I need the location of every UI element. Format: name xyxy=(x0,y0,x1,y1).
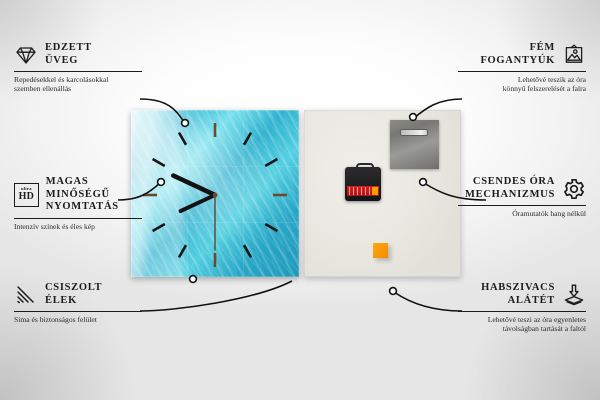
clock-back-panel xyxy=(304,110,461,277)
bevel-edge-icon xyxy=(14,283,38,307)
clock-dial xyxy=(131,110,299,277)
movement-label-marker xyxy=(372,187,378,195)
feature-fem-fogantyuk[interactable]: FÉM FOGANTYÚK Lehetővé teszik az óra kön… xyxy=(458,42,586,94)
hanger-slot xyxy=(400,129,428,136)
metal-hanger-part xyxy=(390,120,439,169)
product-photo xyxy=(131,110,461,277)
foam-pad-icon xyxy=(562,283,586,307)
title-rule xyxy=(458,71,586,72)
clock-tick xyxy=(179,245,186,257)
clock-tick xyxy=(265,224,277,231)
title-rule xyxy=(14,218,142,219)
feature-title: MAGAS MINŐSÉGŰ NYOMTATÁS xyxy=(46,176,142,214)
clock-tick xyxy=(244,245,251,257)
feature-edzett-uveg[interactable]: EDZETT ÜVEG Repedésekkel és karcolásokka… xyxy=(14,42,142,94)
feature-desc: Lehetővé teszi az óra egyenletes távolsá… xyxy=(458,315,586,334)
ultra-hd-icon-main: HD xyxy=(19,192,35,202)
clock-tick xyxy=(179,133,186,145)
feature-title: CSENDES ÓRA MECHANIZMUS xyxy=(465,176,555,201)
movement-label xyxy=(347,186,379,196)
feature-csiszolt-elek[interactable]: CSISZOLT ÉLEK Sima és biztonságos felüle… xyxy=(14,282,142,324)
ultra-hd-icon: ultra HD xyxy=(14,183,39,207)
clock-tick xyxy=(153,159,165,166)
feature-csendes-ora-mechanizmus[interactable]: CSENDES ÓRA MECHANIZMUS Óramutatók hang … xyxy=(458,176,586,218)
feature-desc: Lehetővé teszik az óra könnyű felszerelé… xyxy=(458,75,586,94)
clock-tick xyxy=(265,159,277,166)
infographic-canvas: EDZETT ÜVEG Repedésekkel és karcolásokka… xyxy=(0,0,600,400)
connector-habszivacs xyxy=(394,292,462,311)
feature-desc: Intenzív színek és éles kép xyxy=(14,222,142,231)
feature-title: FÉM FOGANTYÚK xyxy=(480,42,555,67)
feature-title: HABSZIVACS ALÁTÉT xyxy=(481,282,555,307)
title-rule xyxy=(14,71,142,72)
clock-tick xyxy=(153,224,165,231)
feature-desc: Repedésekkel és karcolásokkal szemben el… xyxy=(14,75,142,94)
foam-pad-part xyxy=(373,243,388,258)
connector-csiszolt-elek xyxy=(140,281,292,311)
title-rule xyxy=(458,205,586,206)
feature-magas-minosegu-nyomtatas[interactable]: ultra HD MAGAS MINŐSÉGŰ NYOMTATÁS Intenz… xyxy=(14,176,142,231)
diamond-icon xyxy=(14,43,38,67)
clock-minute-hand xyxy=(181,195,215,211)
connector-dot-habszivacs xyxy=(390,288,397,295)
feature-desc: Sima és biztonságos felület xyxy=(14,315,142,324)
clock-tick xyxy=(244,133,251,145)
feature-desc: Óramutatók hang nélkül xyxy=(458,209,586,218)
clock-hour-hand xyxy=(173,176,215,195)
feature-title: CSISZOLT ÉLEK xyxy=(45,282,102,307)
feature-title: EDZETT ÜVEG xyxy=(45,42,92,67)
picture-hanger-icon xyxy=(562,43,586,67)
title-rule xyxy=(14,311,142,312)
gear-icon xyxy=(562,177,586,201)
title-rule xyxy=(458,311,586,312)
feature-habszivacs-alatet[interactable]: HABSZIVACS ALÁTÉT Lehetővé teszi az óra … xyxy=(458,282,586,334)
clock-front-panel xyxy=(131,110,299,277)
quartz-movement-part xyxy=(345,163,381,201)
